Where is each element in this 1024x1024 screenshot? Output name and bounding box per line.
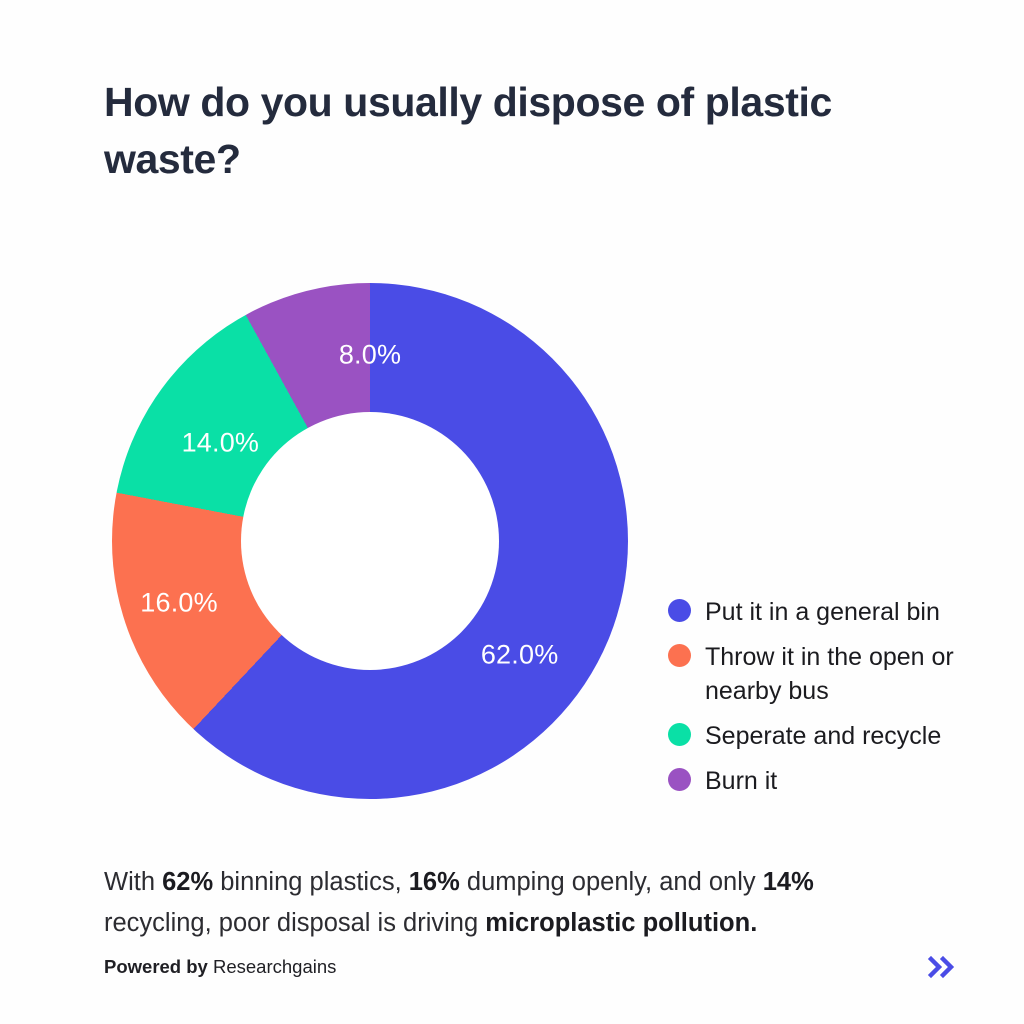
legend-item-label: Throw it in the open or nearby bus [705, 640, 963, 708]
slice-label-put-it-in-a-general-bin: 62.0% [481, 639, 559, 670]
slice-label-seperate-and-recycle: 14.0% [182, 427, 260, 458]
caption-stat-14: 14% [763, 868, 814, 896]
caption-part-3: dumping openly, and only [460, 868, 763, 896]
legend-item-put-it-in-a-general-bin[interactable]: Put it in a general bin [668, 595, 998, 629]
caption-stat-16: 16% [409, 868, 460, 896]
page-title: How do you usually dispose of plastic wa… [104, 74, 954, 187]
chart-legend: Put it in a general bin Throw it in the … [668, 595, 998, 809]
infographic-card: How do you usually dispose of plastic wa… [0, 0, 1024, 1024]
powered-by-label: Powered by [104, 956, 208, 977]
legend-swatch-icon [668, 723, 691, 746]
chart-caption: With 62% binning plastics, 16% dumping o… [104, 862, 904, 945]
legend-item-label: Put it in a general bin [705, 595, 940, 629]
caption-highlight-microplastic-pollution: microplastic pollution. [485, 909, 757, 937]
powered-by-credit: Powered by Researchgains [104, 956, 336, 978]
slice-label-burn-it: 8.0% [339, 340, 401, 371]
legend-item-throw-it-in-the-open-or-nearby-bus[interactable]: Throw it in the open or nearby bus [668, 640, 998, 708]
legend-swatch-icon [668, 768, 691, 791]
chart-area: 62.0% 16.0% 14.0% 8.0% Put it in a gener… [0, 245, 1024, 825]
caption-part-1: With [104, 868, 162, 896]
legend-item-seperate-and-recycle[interactable]: Seperate and recycle [668, 719, 998, 753]
brand-name: Researchgains [213, 956, 336, 977]
legend-item-label: Burn it [705, 764, 777, 798]
slice-label-throw-it-in-the-open: 16.0% [140, 587, 218, 618]
caption-part-2: binning plastics, [213, 868, 409, 896]
legend-swatch-icon [668, 644, 691, 667]
caption-part-4: recycling, poor disposal is driving [104, 909, 485, 937]
footer: Powered by Researchgains [104, 952, 960, 982]
donut-center-hole [241, 412, 499, 670]
legend-swatch-icon [668, 599, 691, 622]
legend-item-burn-it[interactable]: Burn it [668, 764, 998, 798]
donut-chart[interactable]: 62.0% 16.0% 14.0% 8.0% [112, 283, 628, 799]
caption-stat-62: 62% [162, 868, 213, 896]
legend-item-label: Seperate and recycle [705, 719, 941, 753]
double-chevron-right-icon[interactable] [926, 952, 960, 982]
